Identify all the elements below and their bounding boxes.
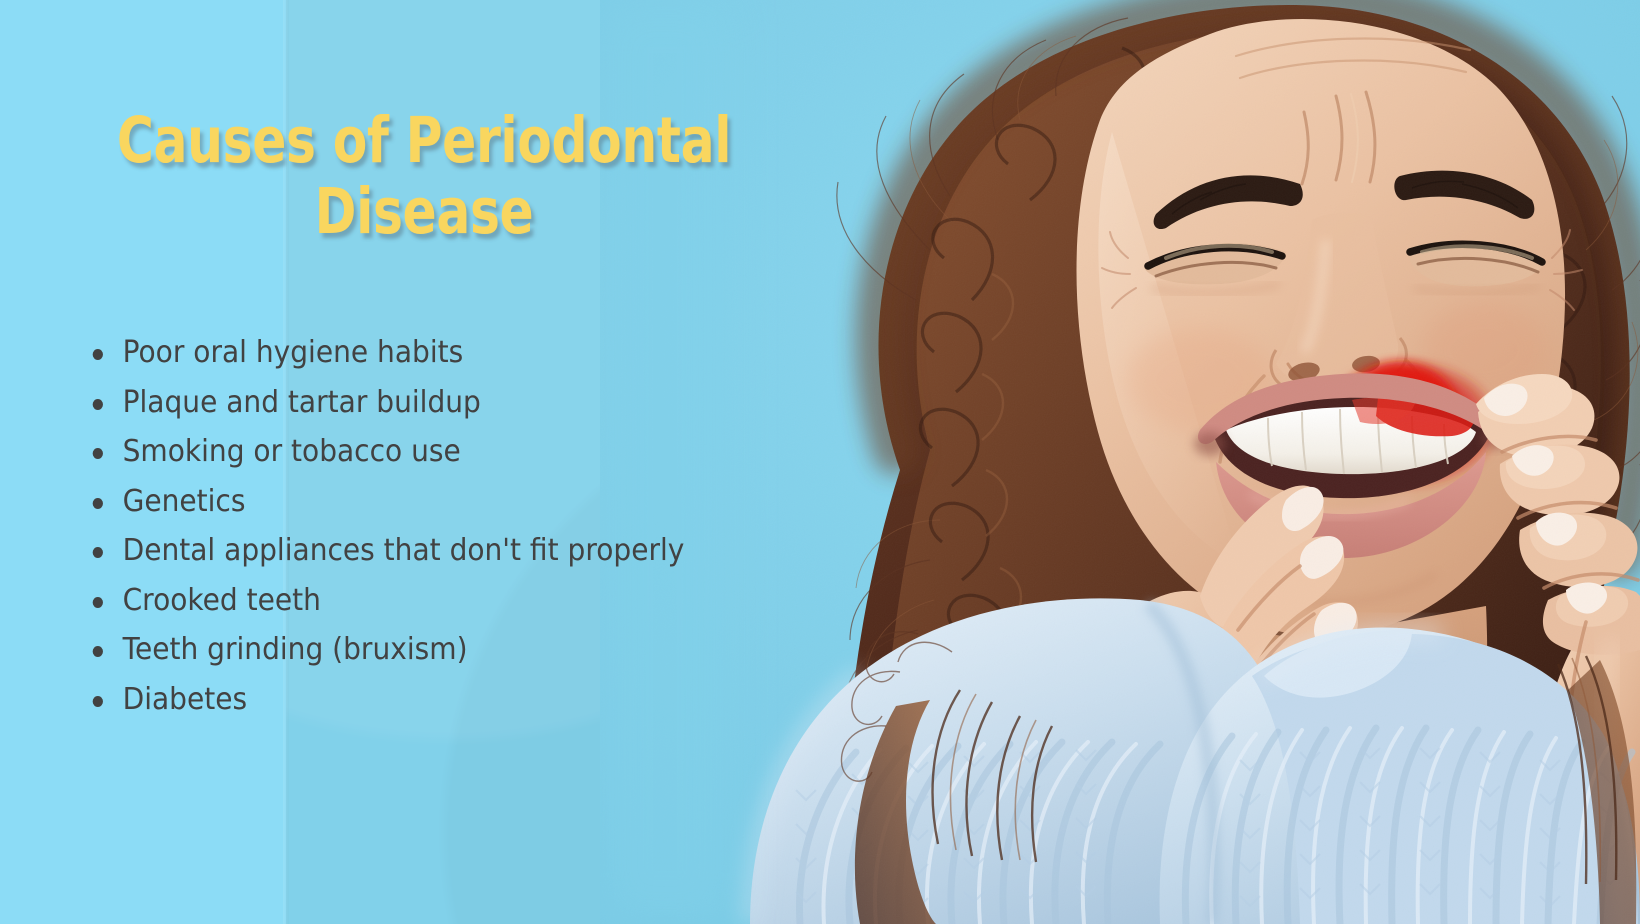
slide-canvas: Causes of Periodontal Disease Poor oral … bbox=[0, 0, 1640, 924]
bullet-marker-icon bbox=[93, 349, 103, 360]
bullet-marker-icon bbox=[93, 448, 103, 459]
bullet-marker-icon bbox=[93, 547, 103, 558]
list-item-label: Teeth grinding (bruxism) bbox=[123, 632, 468, 667]
bullet-marker-icon bbox=[93, 498, 103, 509]
list-item-label: Genetics bbox=[123, 484, 246, 519]
list-item-label: Dental appliances that don't fit properl… bbox=[123, 533, 685, 568]
list-item: Plaque and tartar buildup bbox=[88, 380, 771, 430]
bullet-marker-icon bbox=[93, 646, 103, 657]
bullet-marker-icon bbox=[93, 696, 103, 707]
list-item-label: Plaque and tartar buildup bbox=[123, 385, 481, 420]
list-item: Poor oral hygiene habits bbox=[88, 330, 771, 380]
list-item: Teeth grinding (bruxism) bbox=[88, 627, 771, 677]
list-item: Genetics bbox=[88, 479, 771, 529]
bullet-marker-icon bbox=[93, 597, 103, 608]
list-item-label: Poor oral hygiene habits bbox=[123, 335, 464, 370]
list-item: Diabetes bbox=[88, 677, 771, 727]
list-item: Crooked teeth bbox=[88, 578, 771, 628]
bullet-marker-icon bbox=[93, 399, 103, 410]
list-item-label: Smoking or tobacco use bbox=[123, 434, 461, 469]
page-title: Causes of Periodontal Disease bbox=[64, 106, 784, 247]
causes-list: Poor oral hygiene habits Plaque and tart… bbox=[88, 330, 818, 726]
list-item-label: Diabetes bbox=[123, 682, 248, 717]
list-item-label: Crooked teeth bbox=[123, 583, 321, 618]
list-item: Dental appliances that don't fit properl… bbox=[88, 528, 771, 578]
list-item: Smoking or tobacco use bbox=[88, 429, 771, 479]
